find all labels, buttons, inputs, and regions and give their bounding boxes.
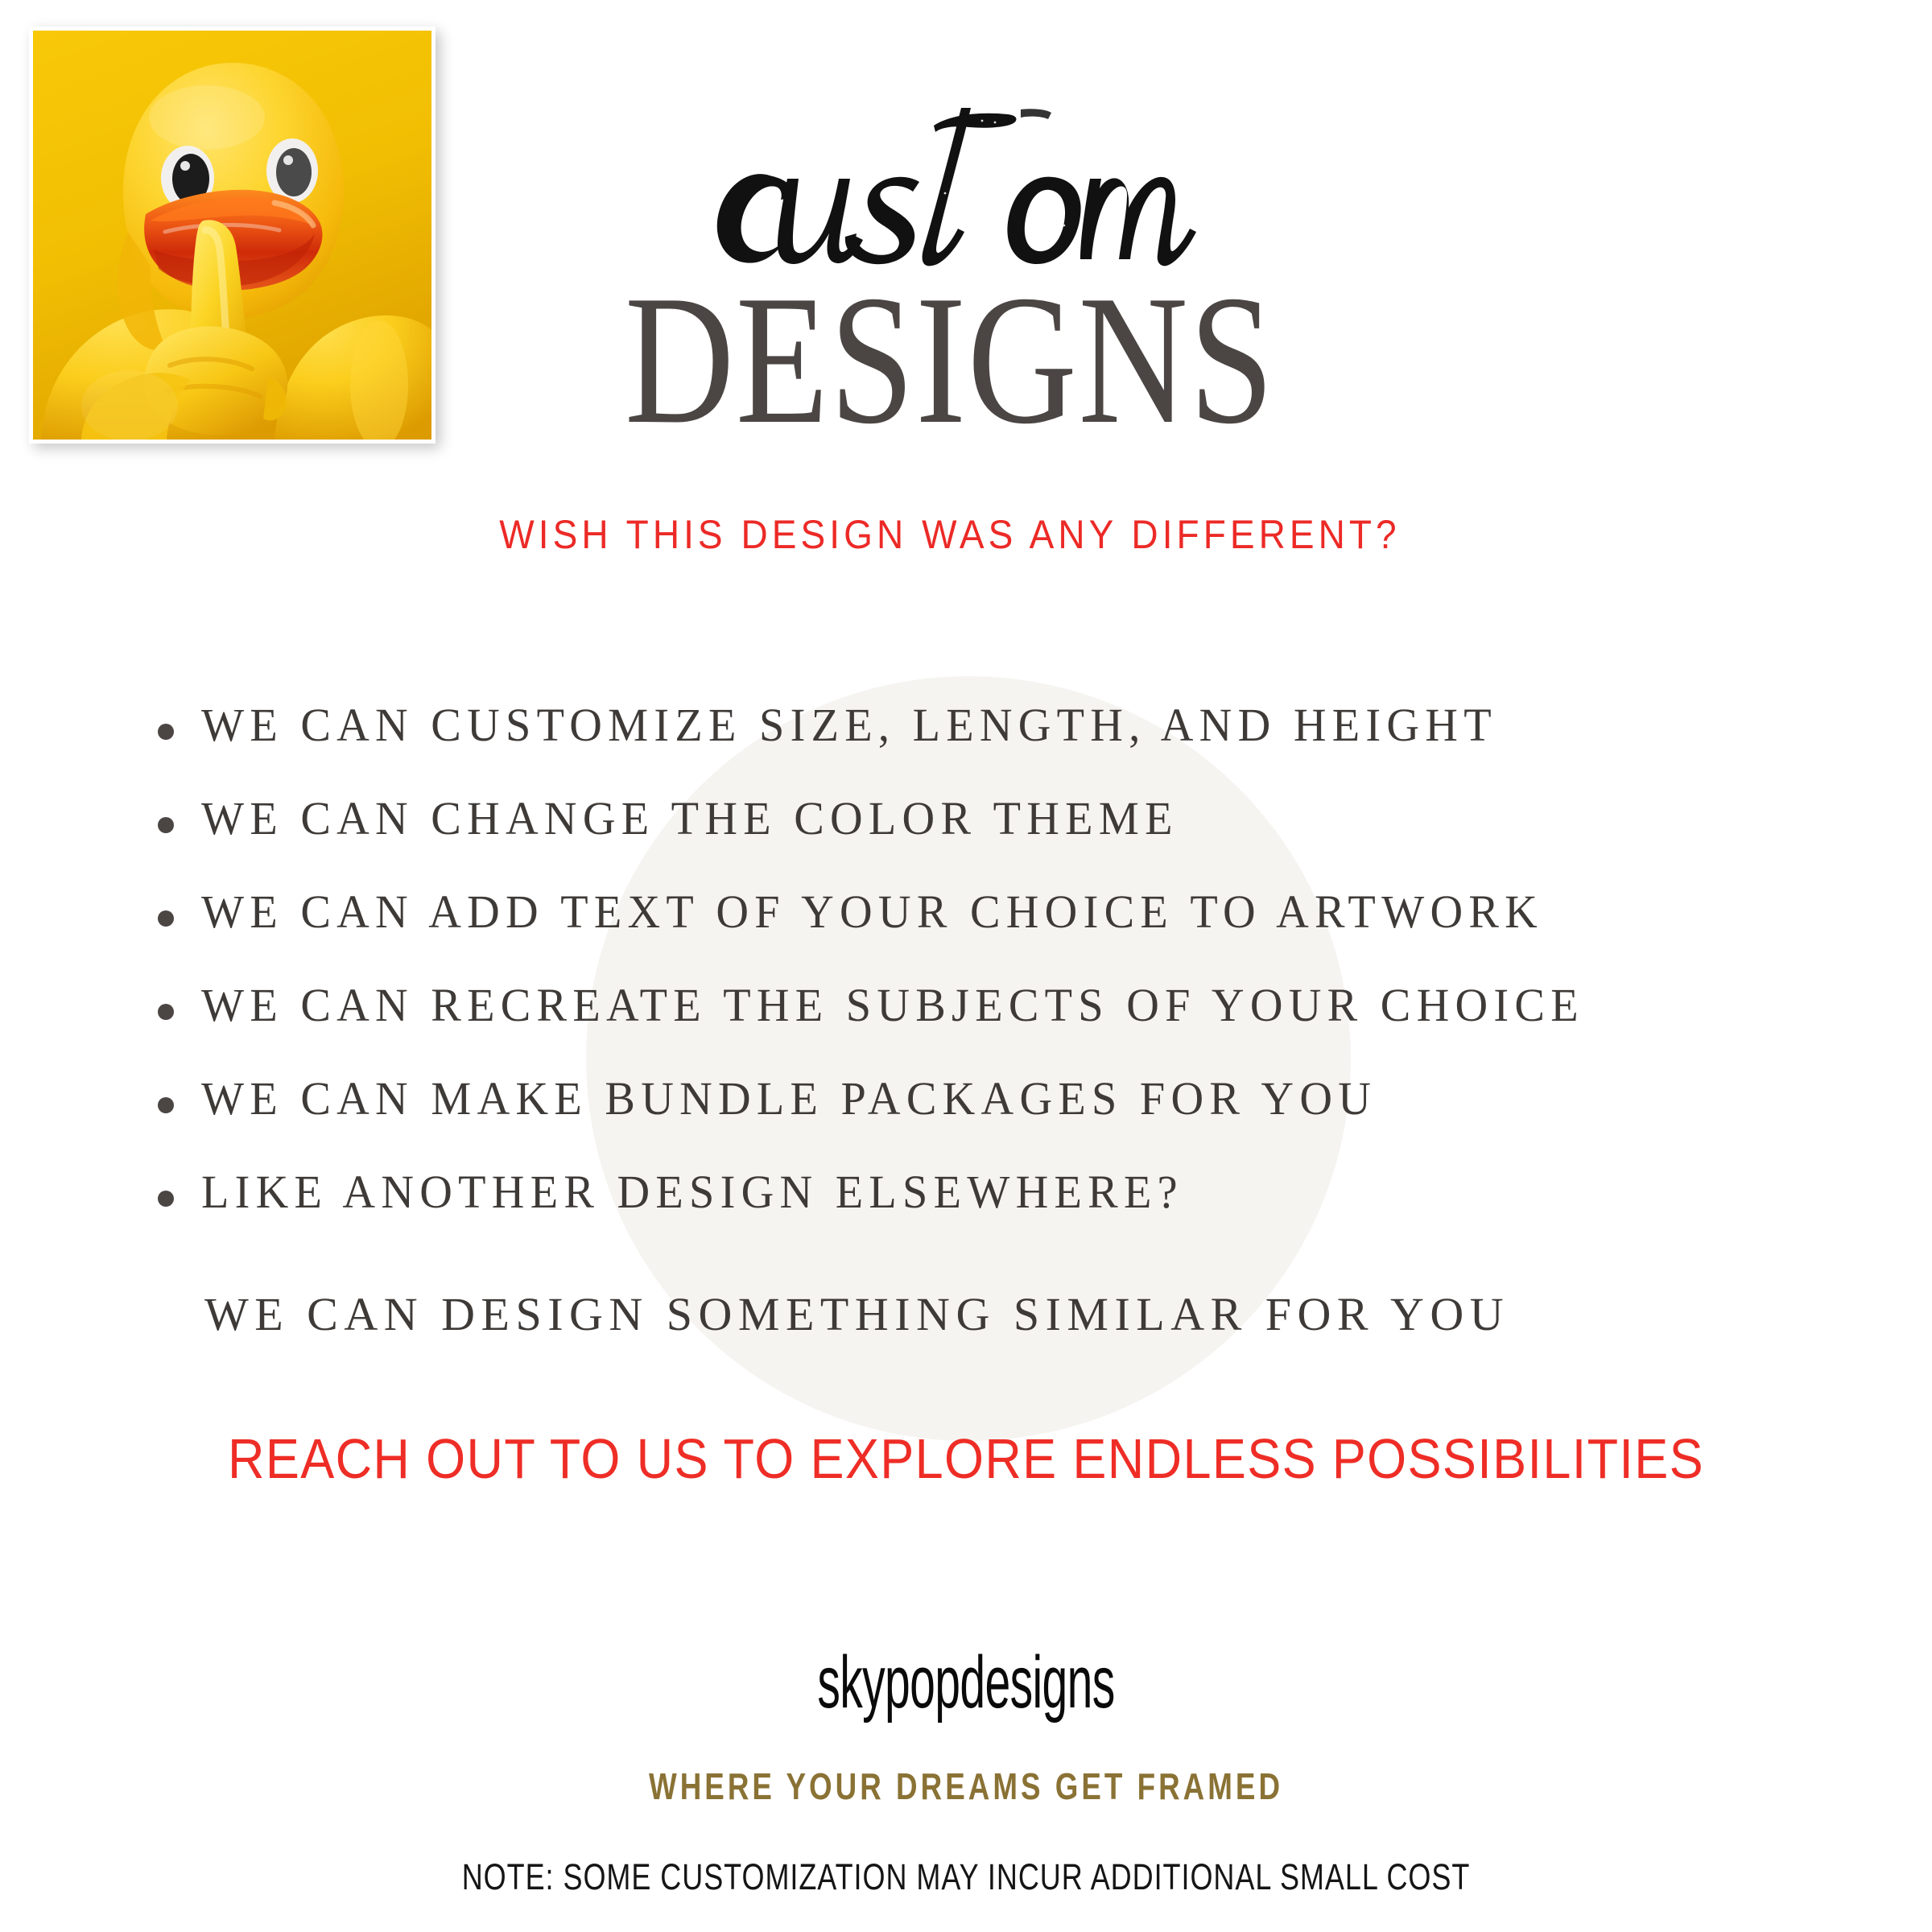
list-item-label: WE CAN ADD TEXT OF YOUR CHOICE TO ARTWOR… xyxy=(201,889,1543,935)
duck-photo xyxy=(33,31,431,440)
list-item: WE CAN RECREATE THE SUBJECTS OF YOUR CHO… xyxy=(158,982,1897,1075)
subtitle-question: WISH THIS DESIGN WAS ANY DIFFERENT? xyxy=(491,511,1410,558)
features-list: WE CAN CUSTOMIZE SIZE, LENGTH, AND HEIGH… xyxy=(158,702,1897,1262)
list-item-label: WE CAN RECREATE THE SUBJECTS OF YOUR CHO… xyxy=(201,982,1584,1029)
list-item-label: WE CAN CUSTOMIZE SIZE, LENGTH, AND HEIGH… xyxy=(201,702,1497,749)
bullet-dot-icon xyxy=(158,1004,174,1020)
list-item-label: WE CAN CHANGE THE COLOR THEME xyxy=(201,795,1179,842)
brand-tagline: WHERE YOUR DREAMS GET FRAMED xyxy=(193,1765,1739,1808)
duck-eye-right xyxy=(266,138,318,203)
bullet-dot-icon xyxy=(158,724,174,740)
brand-logo-text: skypopdesigns xyxy=(367,1641,1565,1725)
page-title: DESIGNS xyxy=(541,272,1360,448)
script-title-custom xyxy=(692,105,1256,274)
list-item-label: LIKE ANOTHER DESIGN ELSEWHERE? xyxy=(201,1169,1183,1216)
list-item: WE CAN CHANGE THE COLOR THEME xyxy=(158,795,1897,889)
bullet-dot-icon xyxy=(158,1191,174,1207)
poster-canvas: DESIGNS WISH THIS DESIGN WAS ANY DIFFERE… xyxy=(0,0,1932,1932)
list-item: WE CAN ADD TEXT OF YOUR CHOICE TO ARTWOR… xyxy=(158,889,1897,982)
custom-brush-script-icon xyxy=(692,105,1256,274)
bullet-dot-icon xyxy=(158,910,174,927)
list-item-continuation: WE CAN DESIGN SOMETHING SIMILAR FOR YOU xyxy=(204,1291,1509,1338)
list-item-label: WE CAN MAKE BUNDLE PACKAGES FOR YOU xyxy=(201,1075,1377,1122)
list-item: LIKE ANOTHER DESIGN ELSEWHERE? xyxy=(158,1169,1897,1262)
footer-note: NOTE: SOME CUSTOMIZATION MAY INCUR ADDIT… xyxy=(193,1856,1739,1898)
list-item: WE CAN CUSTOMIZE SIZE, LENGTH, AND HEIGH… xyxy=(158,702,1897,795)
rubber-duck-shhh-icon xyxy=(33,31,431,440)
list-item: WE CAN MAKE BUNDLE PACKAGES FOR YOU xyxy=(158,1075,1897,1169)
bullet-dot-icon xyxy=(158,1097,174,1113)
duck-photo-frame xyxy=(29,27,436,444)
call-to-action-text: REACH OUT TO US TO EXPLORE ENDLESS POSSI… xyxy=(97,1426,1835,1491)
bullet-dot-icon xyxy=(158,817,174,833)
